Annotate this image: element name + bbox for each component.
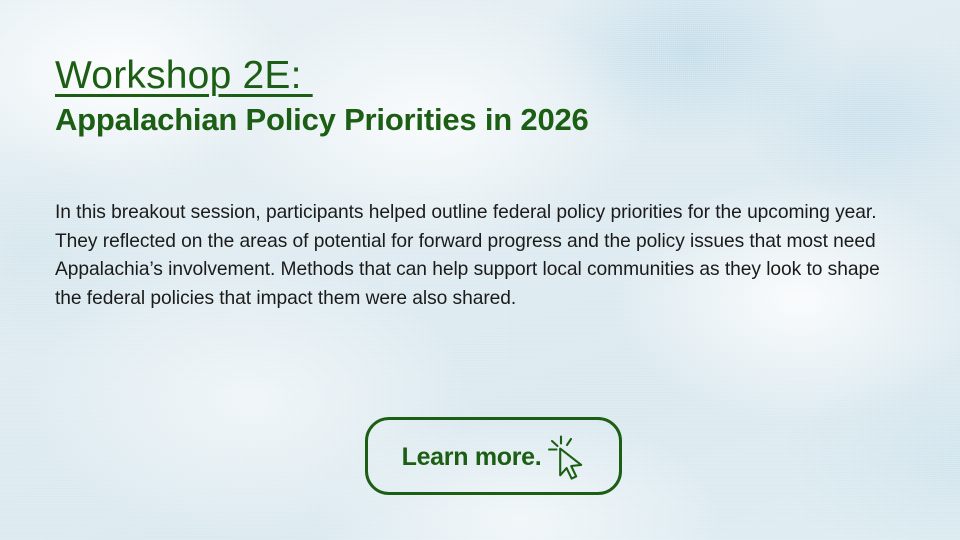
- slide-background: Workshop 2E: Appalachian Policy Prioriti…: [0, 0, 960, 540]
- learn-more-button[interactable]: Learn more.: [365, 417, 622, 495]
- title-line-session-name: Appalachian Policy Priorities in 2026: [55, 103, 589, 138]
- page-title: Workshop 2E: Appalachian Policy Prioriti…: [55, 55, 589, 138]
- learn-more-label: Learn more.: [402, 443, 542, 472]
- title-line-workshop-number: Workshop 2E:: [55, 55, 589, 96]
- session-description: In this breakout session, participants h…: [55, 199, 905, 313]
- click-cursor-icon: [547, 435, 585, 481]
- slide-content: Workshop 2E: Appalachian Policy Prioriti…: [0, 0, 960, 540]
